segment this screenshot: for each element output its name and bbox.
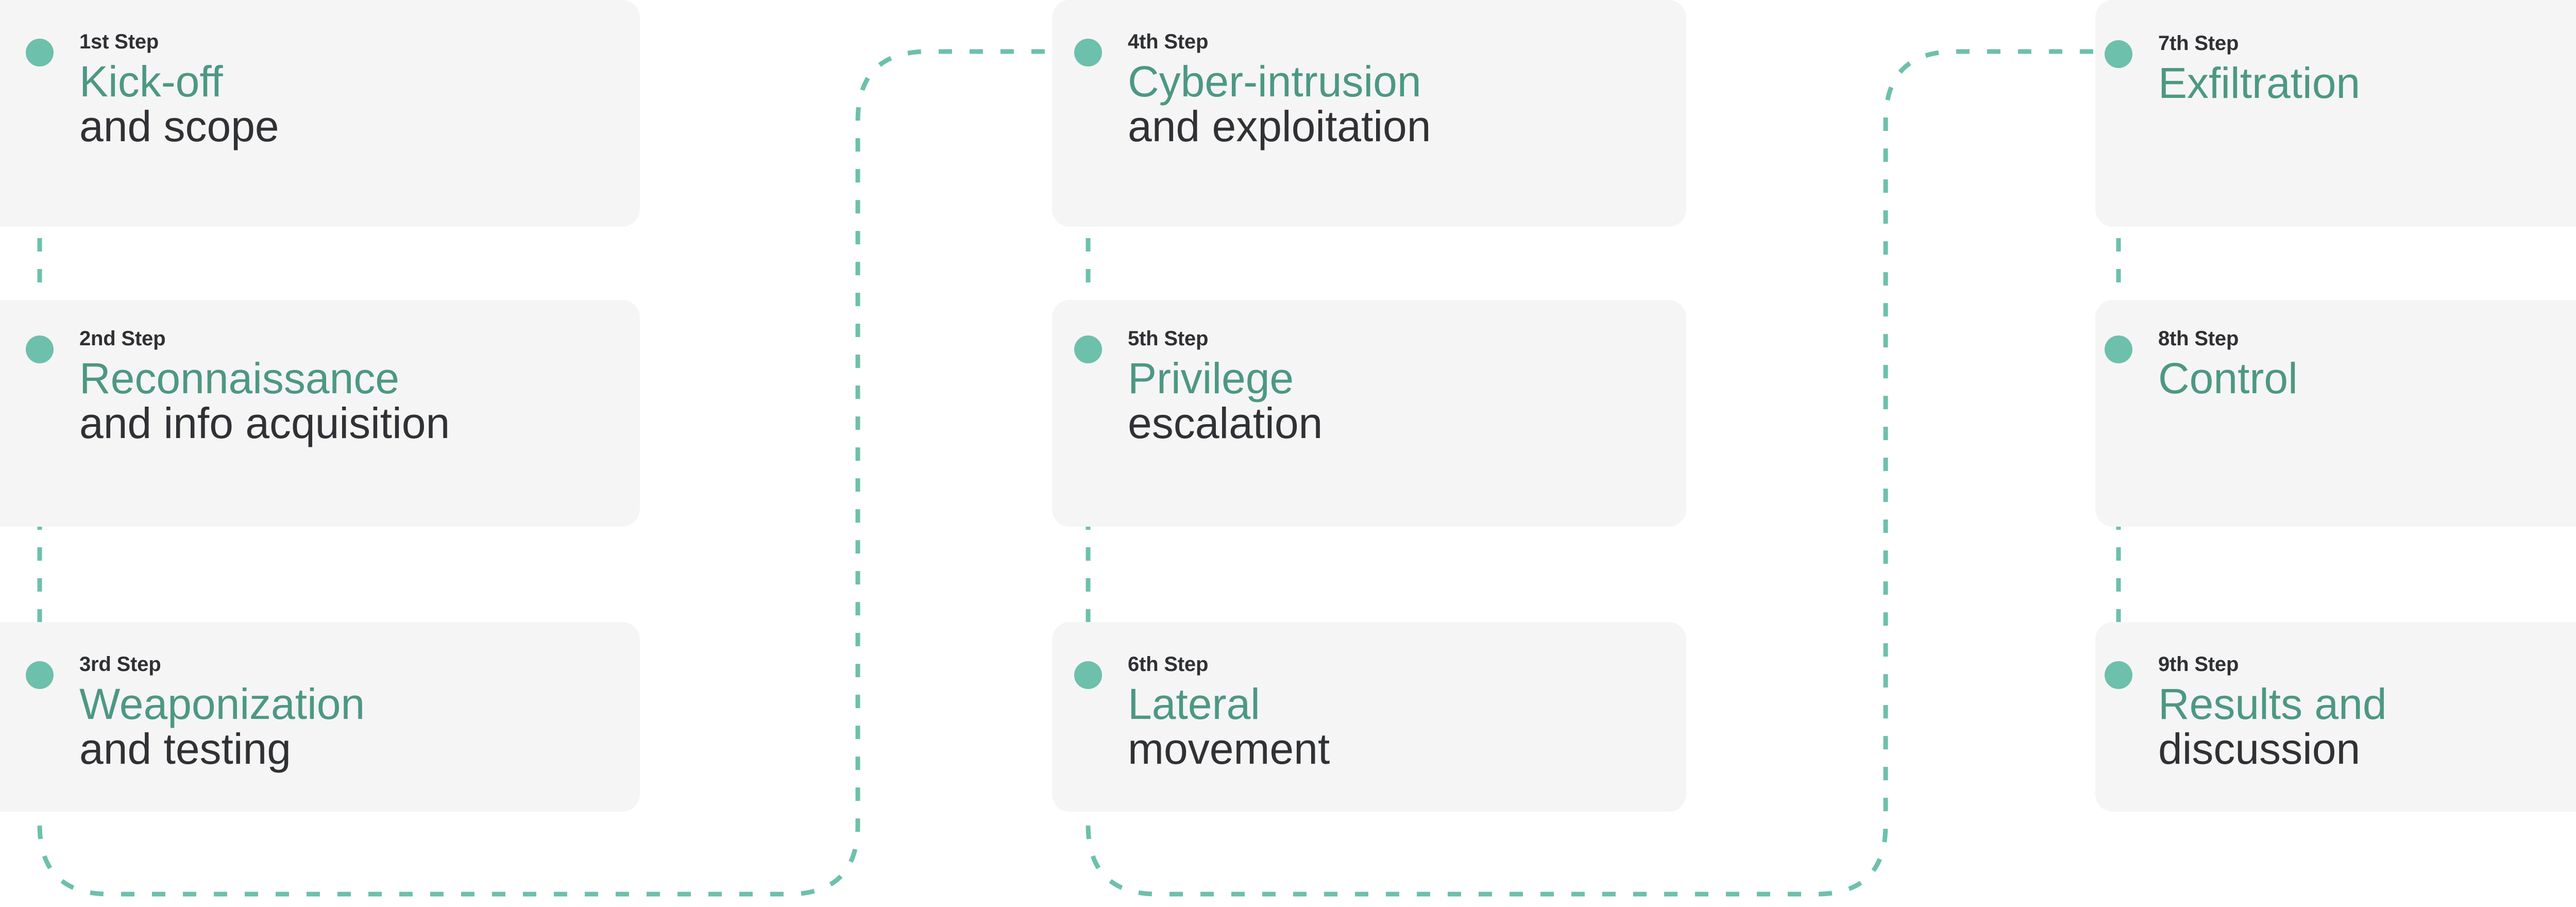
step-marker-dot-icon: [2105, 40, 2132, 68]
step-8-title: Control: [2158, 356, 2298, 401]
step-3-label: 3rd Step: [79, 654, 365, 675]
step-2-title: Reconnaissance: [79, 356, 450, 401]
step-8-label: 8th Step: [2158, 328, 2298, 349]
step-7-title: Exfiltration: [2158, 61, 2360, 106]
step-marker-dot-icon: [26, 335, 54, 363]
step-marker-dot-icon: [26, 39, 54, 66]
step-5-label: 5th Step: [1128, 328, 1323, 349]
step-5-text: 5th Step Privilege escalation: [1128, 328, 1323, 446]
step-1-label: 1st Step: [79, 31, 279, 52]
step-2-subtitle: and info acquisition: [79, 401, 450, 446]
step-4-title: Cyber-intrusion: [1128, 59, 1431, 104]
timeline-diagram: 1st Step Kick-off and scope 2nd Step Rec…: [0, 0, 2576, 907]
step-4-label: 4th Step: [1128, 31, 1431, 52]
step-marker-dot-icon: [2105, 661, 2132, 689]
step-1-subtitle: and scope: [79, 104, 279, 149]
step-1-text: 1st Step Kick-off and scope: [79, 31, 279, 149]
step-2-text: 2nd Step Reconnaissance and info acquisi…: [79, 328, 450, 446]
step-4-subtitle: and exploitation: [1128, 104, 1431, 149]
step-6-label: 6th Step: [1128, 654, 1330, 675]
step-3-title: Weaponization: [79, 682, 365, 727]
step-7-label: 7th Step: [2158, 33, 2360, 54]
step-7-text: 7th Step Exfiltration: [2158, 33, 2360, 106]
step-marker-dot-icon: [1074, 39, 1102, 66]
step-5-title: Privilege: [1128, 356, 1323, 401]
step-marker-dot-icon: [26, 661, 54, 689]
step-6-text: 6th Step Lateral movement: [1128, 654, 1330, 772]
step-6-title: Lateral: [1128, 682, 1330, 727]
step-2-label: 2nd Step: [79, 328, 450, 349]
step-marker-dot-icon: [1074, 661, 1102, 689]
step-marker-dot-icon: [2105, 335, 2132, 363]
step-8-text: 8th Step Control: [2158, 328, 2298, 401]
step-3-text: 3rd Step Weaponization and testing: [79, 654, 365, 772]
step-1-title: Kick-off: [79, 59, 279, 104]
step-9-label: 9th Step: [2158, 654, 2387, 675]
step-6-subtitle: movement: [1128, 727, 1330, 771]
step-5-subtitle: escalation: [1128, 401, 1323, 446]
step-9-text: 9th Step Results and discussion: [2158, 654, 2387, 772]
step-9-subtitle: discussion: [2158, 727, 2387, 771]
step-3-subtitle: and testing: [79, 727, 365, 771]
step-9-title: Results and: [2158, 682, 2387, 727]
step-4-text: 4th Step Cyber-intrusion and exploitatio…: [1128, 31, 1431, 149]
step-marker-dot-icon: [1074, 335, 1102, 363]
